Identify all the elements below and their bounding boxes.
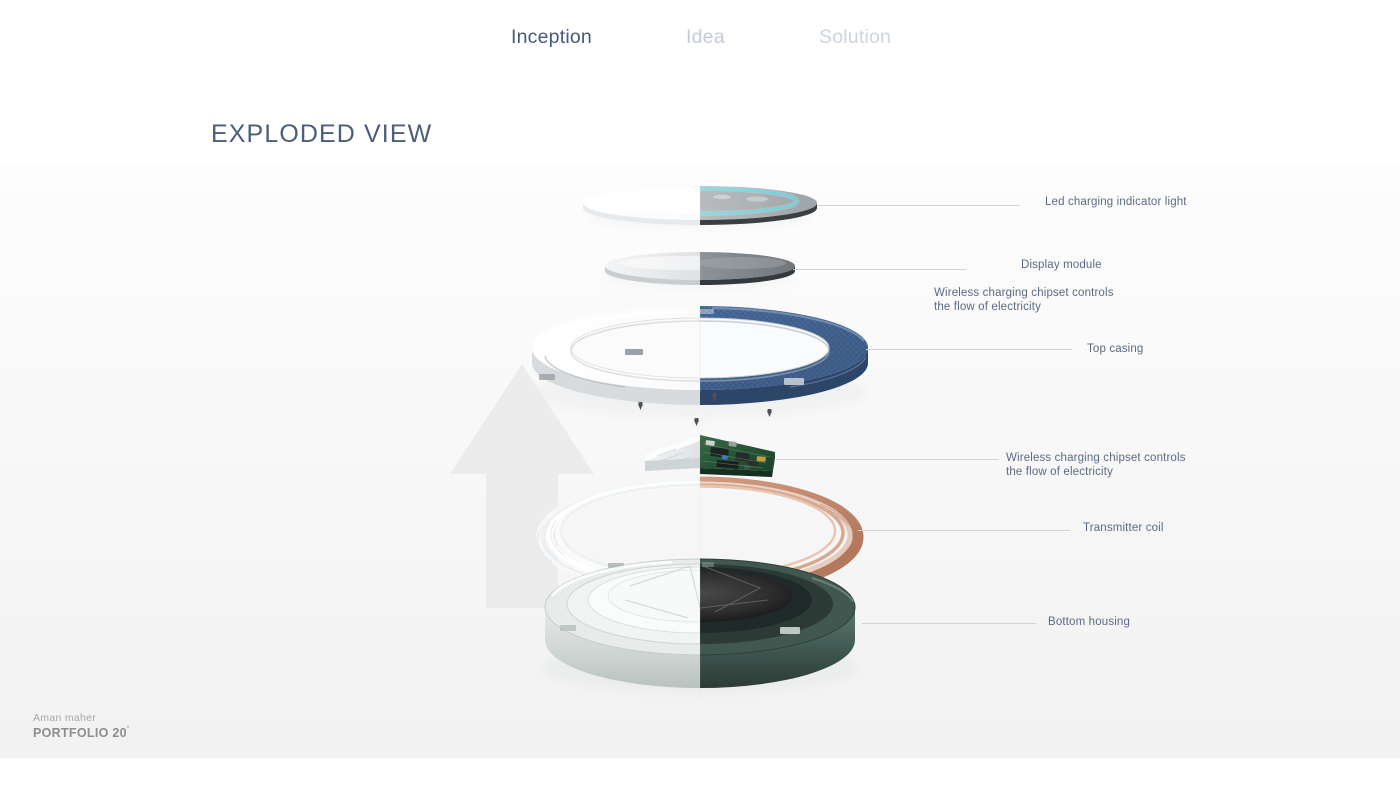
footer-portfolio: PORTFOLIO 20˚ xyxy=(33,725,130,740)
part-display-module xyxy=(605,252,795,288)
callout-led-charging-indicator: Led charging indicator light xyxy=(1045,195,1187,209)
page-title: EXPLODED VIEW xyxy=(211,120,432,149)
nav-item-inception[interactable]: Inception xyxy=(511,26,592,49)
footer-portfolio-mark: ˚ xyxy=(127,725,130,734)
leader-line-top-casing xyxy=(866,349,1072,350)
part-wireless-charging-chipset xyxy=(645,433,775,477)
leader-line-chipset xyxy=(776,459,998,460)
part-bottom-housing xyxy=(540,558,860,694)
top-nav: Inception Idea Solution xyxy=(0,0,1400,78)
footer-author: Aman maher xyxy=(33,712,130,724)
leader-line-led xyxy=(818,205,1020,206)
callout-chipset-upper: Wireless charging chipset controls the f… xyxy=(934,286,1114,314)
part-led-charging-indicator xyxy=(583,186,817,226)
nav-item-solution[interactable]: Solution xyxy=(819,26,891,49)
nav-item-idea[interactable]: Idea xyxy=(686,26,725,49)
part-top-casing xyxy=(532,306,868,426)
slide-root: Inception Idea Solution EXPLODED VIEW xyxy=(0,0,1400,802)
callout-bottom-housing: Bottom housing xyxy=(1048,615,1130,629)
footer-portfolio-text: PORTFOLIO 20 xyxy=(33,726,127,740)
leader-line-coil xyxy=(858,530,1070,531)
callout-display-module: Display module xyxy=(1021,258,1102,272)
callout-top-casing: Top casing xyxy=(1087,342,1143,356)
footer: Aman maher PORTFOLIO 20˚ xyxy=(33,712,130,740)
leader-line-bottom xyxy=(862,623,1036,624)
callout-wireless-charging-chipset: Wireless charging chipset controls the f… xyxy=(1006,451,1186,479)
exploded-assembly xyxy=(0,0,1400,802)
callout-transmitter-coil: Transmitter coil xyxy=(1083,521,1164,535)
leader-line-display xyxy=(793,269,966,270)
